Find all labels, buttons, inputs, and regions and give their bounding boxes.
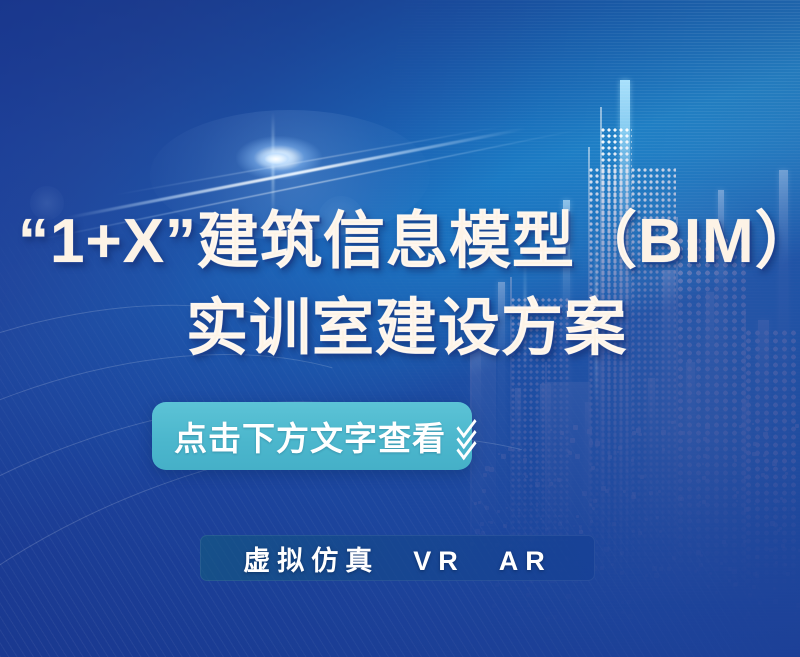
particle-dot xyxy=(659,567,663,571)
particle-dot xyxy=(475,529,480,534)
particle-dot xyxy=(773,587,776,590)
particle-dot xyxy=(707,585,710,588)
particle-dot xyxy=(779,527,782,530)
particle-dot xyxy=(632,530,635,533)
cta-label: 点击下方文字查看 xyxy=(174,412,446,460)
particle-dot xyxy=(672,556,676,560)
skyline-bar xyxy=(686,362,695,520)
particle-dot xyxy=(604,591,606,593)
particle-dot xyxy=(746,612,750,616)
particle-dot xyxy=(506,522,508,524)
particle-dot xyxy=(734,582,738,586)
particle-dot xyxy=(728,567,732,571)
particle-dot xyxy=(694,570,697,573)
particle-dot xyxy=(612,522,616,526)
particle-dot xyxy=(480,522,484,526)
particle-dot xyxy=(621,611,624,614)
particle-dot xyxy=(579,528,582,531)
particle-dot xyxy=(794,612,797,615)
title-line-1: “1+X”建筑信息模型（BIM） xyxy=(18,190,800,280)
particle-dot xyxy=(526,593,530,597)
particle-dot xyxy=(755,574,759,578)
particle-dot xyxy=(488,521,490,523)
particle-dot xyxy=(699,563,703,567)
chevron-down-icon xyxy=(456,420,477,452)
particle-dot xyxy=(748,593,752,597)
view-below-cta-button[interactable]: 点击下方文字查看 xyxy=(152,402,472,470)
particle-dot xyxy=(621,601,624,604)
skyline-bar xyxy=(758,320,769,520)
skyline-bar xyxy=(706,292,714,520)
title-line-2: 实训室建设方案 xyxy=(186,277,627,367)
particle-dot xyxy=(786,572,790,576)
particle-dot xyxy=(553,615,557,619)
particle-dot xyxy=(546,616,550,620)
particle-dot xyxy=(620,551,624,555)
particle-dot xyxy=(573,525,575,527)
particle-dot xyxy=(531,618,533,620)
particle-dot xyxy=(515,584,517,586)
skyline-bar xyxy=(585,402,591,520)
particle-dot xyxy=(770,521,775,526)
particle-dot xyxy=(715,591,718,594)
particle-dot xyxy=(777,529,780,532)
particle-dot xyxy=(709,572,712,575)
particle-dot xyxy=(781,544,785,548)
particle-dot xyxy=(515,611,520,616)
skyline-bar xyxy=(663,270,675,520)
particle-dot xyxy=(590,520,593,523)
particle-dot xyxy=(599,614,603,618)
particle-dot xyxy=(546,618,550,622)
skyline-bar xyxy=(648,378,655,520)
particle-dot xyxy=(682,615,685,618)
particle-dot xyxy=(628,614,633,619)
particle-dot xyxy=(627,600,631,604)
particle-dot xyxy=(638,531,642,535)
skyline-bar xyxy=(515,388,521,520)
particle-dot xyxy=(558,522,562,526)
particle-dot xyxy=(696,550,701,555)
particle-dot xyxy=(611,563,614,566)
particle-dot xyxy=(654,573,659,578)
particle-dot xyxy=(732,569,737,574)
tagline-text: 虚拟仿真 VR AR xyxy=(243,539,552,578)
particle-dot xyxy=(566,594,571,599)
particle-dot xyxy=(659,530,662,533)
particle-dot xyxy=(604,547,609,552)
tagline-bar: 虚拟仿真 VR AR xyxy=(200,535,595,581)
particle-dot xyxy=(579,530,583,534)
particle-dot xyxy=(755,555,759,559)
particle-dot xyxy=(532,529,536,533)
particle-dot xyxy=(490,521,493,524)
particle-dot xyxy=(503,524,507,528)
particle-dot xyxy=(545,528,548,531)
particle-dot xyxy=(567,529,569,531)
particle-dot xyxy=(769,548,773,552)
particle-dot xyxy=(744,616,748,620)
particle-dot xyxy=(667,567,671,571)
particle-dot xyxy=(775,561,778,564)
skyline-bar xyxy=(742,400,749,520)
bim-promo-poster: “1+X”建筑信息模型（BIM） 实训室建设方案 点击下方文字查看 虚拟仿真 V… xyxy=(0,0,800,657)
particle-dot xyxy=(492,604,496,608)
particle-dot xyxy=(645,574,648,577)
particle-dot xyxy=(597,606,600,609)
particle-dot xyxy=(784,563,787,566)
particle-dot xyxy=(773,599,778,604)
particle-dot xyxy=(509,588,511,590)
particle-dot xyxy=(686,600,690,604)
particle-dot xyxy=(647,588,649,590)
particle-dot xyxy=(722,540,726,544)
particle-dot xyxy=(527,587,530,590)
particle-dot xyxy=(568,616,571,619)
particle-dot xyxy=(700,554,703,557)
particle-dot xyxy=(579,525,582,528)
particle-dot xyxy=(652,566,657,571)
particle-dot xyxy=(796,603,800,608)
particle-dot xyxy=(720,562,723,565)
particle-dot xyxy=(752,585,756,589)
particle-dot xyxy=(495,583,499,587)
particle-dot xyxy=(753,572,757,576)
particle-dot xyxy=(733,583,737,587)
particle-dot xyxy=(527,604,530,607)
particle-dot xyxy=(758,601,762,605)
particle-dot xyxy=(620,571,624,575)
particle-dot xyxy=(728,579,731,582)
particle-dot xyxy=(743,540,746,543)
particle-dot xyxy=(600,566,604,570)
particle-dot xyxy=(577,599,581,603)
skyline-bar xyxy=(540,384,551,520)
